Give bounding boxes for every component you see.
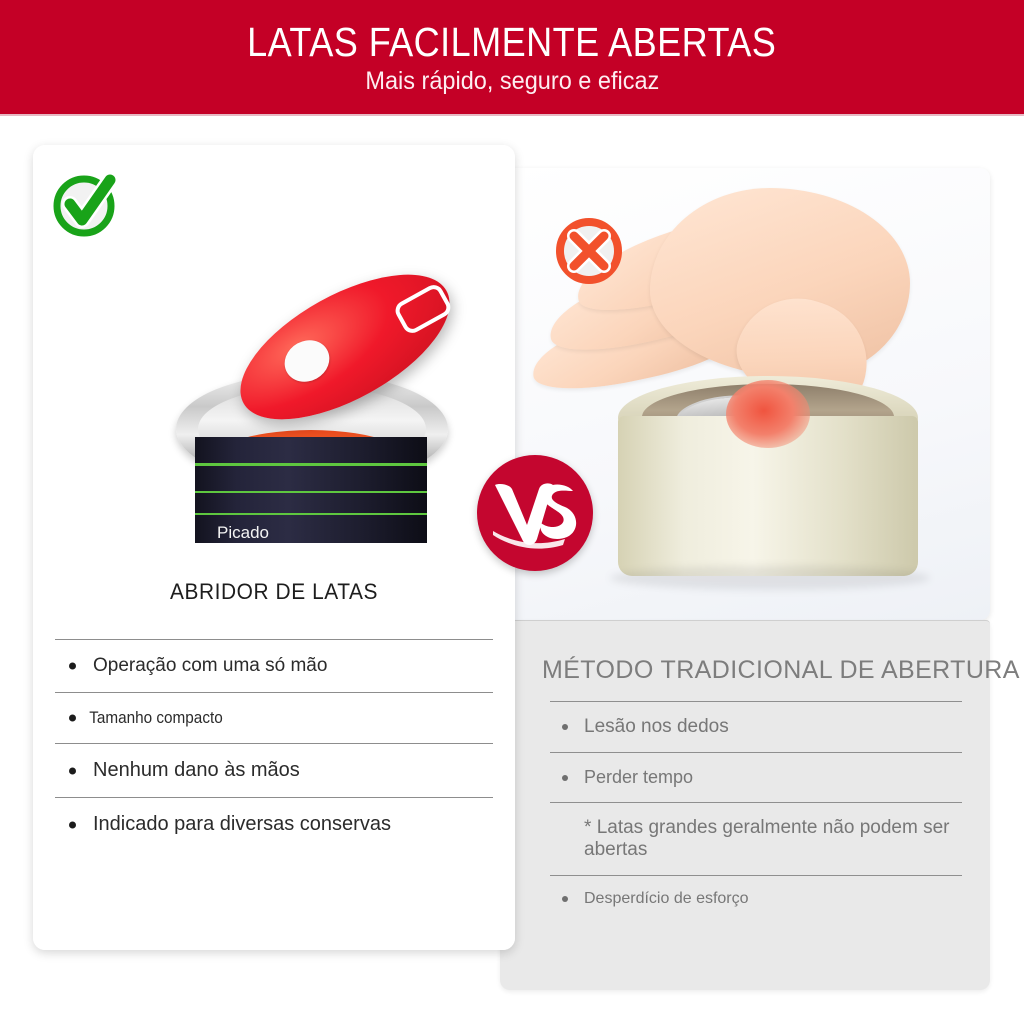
product-title: ABRIDOR DE LATAS [45,543,503,605]
traditional-method-panel: MÉTODO TRADICIONAL DE ABERTURA Lesão nos… [500,620,990,990]
can-opener-details: ABRIDOR DE LATAS Operação com uma só mão… [33,543,515,950]
x-circle-icon [554,216,624,286]
drawbacks-list: Lesão nos dedos Perder tempo * Latas gra… [550,701,962,922]
feature-text: Indicado para diversas conservas [55,813,493,836]
can-shadow [610,566,930,590]
can-opener-card: Picado Tomates ABRIDOR DE LATAS [33,145,515,950]
label-stripe [195,513,427,515]
can-opener-photo: Picado Tomates [33,145,515,543]
list-item: Operação com uma só mão [55,639,493,692]
can-label-line1: Picado [217,521,387,543]
feature-text: Tamanho compacto [55,708,449,728]
features-list: Operação com uma só mão Tamanho compacto… [55,639,493,851]
label-stripe [195,491,427,493]
drawback-text: Desperdício de esforço [550,890,962,908]
injury-highlight [726,380,810,448]
vs-lettering-icon [487,473,583,553]
drawback-label: Latas grandes geralmente não podem ser a… [584,817,949,860]
list-item: * Latas grandes geralmente não podem ser… [550,802,962,875]
feature-text: Nenhum dano às mãos [55,759,493,782]
drawback-text: Perder tempo [550,767,962,788]
list-item: Indicado para diversas conservas [55,797,493,851]
drawback-text: * Latas grandes geralmente não podem ser… [550,817,962,861]
page-subtitle: Mais rápido, seguro e eficaz [365,67,659,96]
page-title: LATAS FACILMENTE ABERTAS [247,19,776,65]
can-label-text: Picado Tomates [217,521,387,543]
label-stripe [195,463,427,466]
list-item: Lesão nos dedos [550,701,962,752]
header-banner: LATAS FACILMENTE ABERTAS Mais rápido, se… [0,0,1024,114]
list-item: Desperdício de esforço [550,875,962,922]
can-body: Picado Tomates [195,437,427,543]
feature-text: Operação com uma só mão [55,655,493,677]
asterisk-icon: * [584,817,591,838]
list-item: Perder tempo [550,752,962,802]
drawback-text: Lesão nos dedos [550,716,962,738]
list-item: Nenhum dano às mãos [55,743,493,797]
vs-badge [477,455,593,571]
header-divider [0,114,1024,116]
check-circle-icon [48,166,124,242]
traditional-method-title: MÉTODO TRADICIONAL DE ABERTURA [542,655,962,685]
list-item: Tamanho compacto [55,692,493,743]
infographic-page: LATAS FACILMENTE ABERTAS Mais rápido, se… [0,0,1024,1024]
